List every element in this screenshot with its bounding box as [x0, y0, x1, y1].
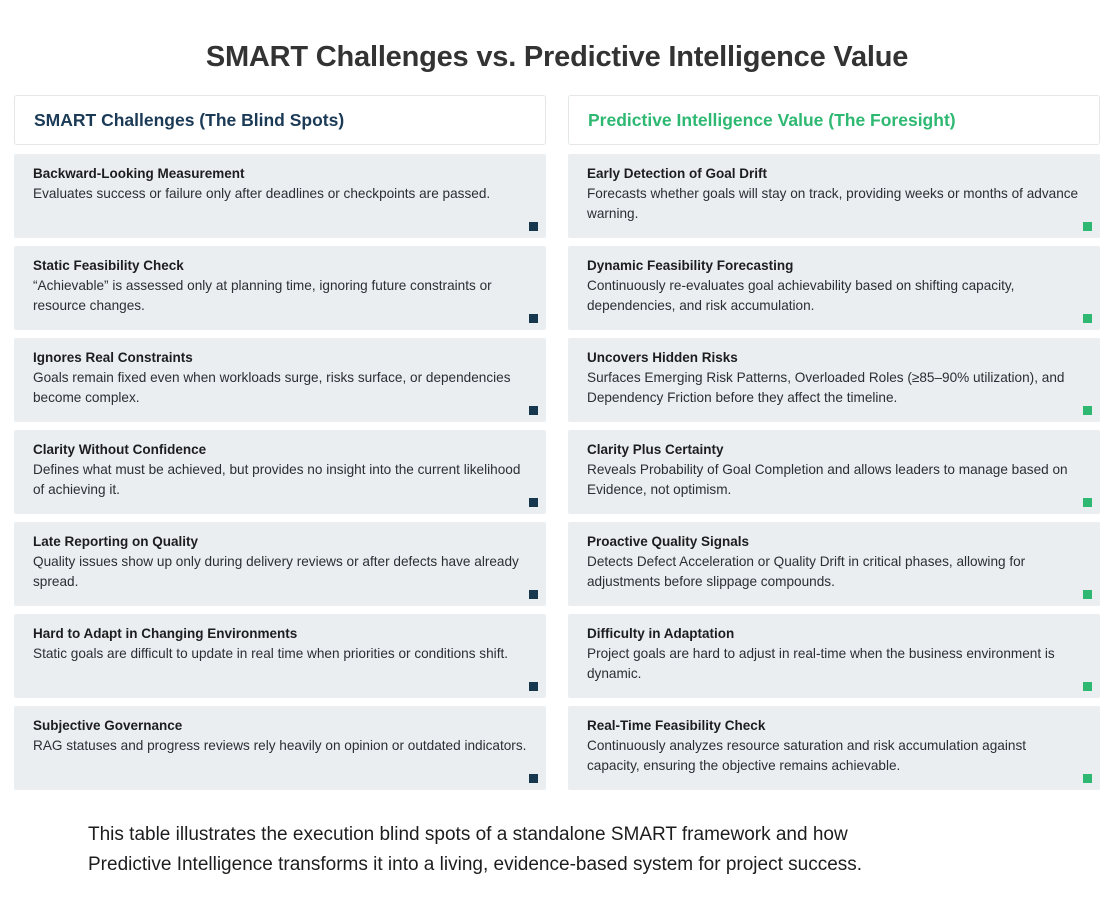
green-square-marker-icon	[1083, 498, 1092, 507]
card-description: Project goals are hard to adjust in real…	[587, 644, 1081, 684]
list-item[interactable]: Clarity Without Confidence Defines what …	[14, 430, 546, 514]
list-item[interactable]: Hard to Adapt in Changing Environments S…	[14, 614, 546, 698]
green-square-marker-icon	[1083, 774, 1092, 783]
list-item[interactable]: Real-Time Feasibility Check Continuously…	[568, 706, 1100, 790]
green-square-marker-icon	[1083, 314, 1092, 323]
card-description: Continuously analyzes resource saturatio…	[587, 736, 1081, 776]
card-description: Forecasts whether goals will stay on tra…	[587, 184, 1081, 224]
card-title: Late Reporting on Quality	[33, 533, 527, 551]
card-title: Dynamic Feasibility Forecasting	[587, 257, 1081, 275]
column-header-smart-challenges: SMART Challenges (The Blind Spots)	[14, 95, 546, 145]
card-title: Real-Time Feasibility Check	[587, 717, 1081, 735]
card-title: Early Detection of Goal Drift	[587, 165, 1081, 183]
card-title: Static Feasibility Check	[33, 257, 527, 275]
green-square-marker-icon	[1083, 406, 1092, 415]
card-description: Defines what must be achieved, but provi…	[33, 460, 527, 500]
list-item[interactable]: Dynamic Feasibility Forecasting Continuo…	[568, 246, 1100, 330]
list-item[interactable]: Static Feasibility Check “Achievable” is…	[14, 246, 546, 330]
card-description: Continuously re-evaluates goal achievabi…	[587, 276, 1081, 316]
list-item[interactable]: Subjective Governance RAG statuses and p…	[14, 706, 546, 790]
list-item[interactable]: Clarity Plus Certainty Reveals Probabili…	[568, 430, 1100, 514]
green-square-marker-icon	[1083, 222, 1092, 231]
comparison-table-page: SMART Challenges vs. Predictive Intellig…	[0, 19, 1114, 905]
caption-line-2: Predictive Intelligence transforms it in…	[88, 850, 1026, 879]
navy-square-marker-icon	[529, 498, 538, 507]
navy-square-marker-icon	[529, 774, 538, 783]
green-square-marker-icon	[1083, 682, 1092, 691]
navy-square-marker-icon	[529, 222, 538, 231]
card-title: Backward-Looking Measurement	[33, 165, 527, 183]
card-description: “Achievable” is assessed only at plannin…	[33, 276, 527, 316]
page-title: SMART Challenges vs. Predictive Intellig…	[0, 19, 1114, 75]
card-description: Evaluates success or failure only after …	[33, 184, 527, 204]
navy-square-marker-icon	[529, 314, 538, 323]
list-item[interactable]: Uncovers Hidden Risks Surfaces Emerging …	[568, 338, 1100, 422]
card-description: Quality issues show up only during deliv…	[33, 552, 527, 592]
green-square-marker-icon	[1083, 590, 1092, 599]
list-item[interactable]: Backward-Looking Measurement Evaluates s…	[14, 154, 546, 238]
card-description: RAG statuses and progress reviews rely h…	[33, 736, 527, 756]
column-header-predictive-intelligence-value: Predictive Intelligence Value (The Fores…	[568, 95, 1100, 145]
card-title: Proactive Quality Signals	[587, 533, 1081, 551]
list-item[interactable]: Proactive Quality Signals Detects Defect…	[568, 522, 1100, 606]
card-title: Ignores Real Constraints	[33, 349, 527, 367]
card-list-smart-challenges: Backward-Looking Measurement Evaluates s…	[14, 154, 546, 790]
navy-square-marker-icon	[529, 682, 538, 691]
column-header-label: Predictive Intelligence Value (The Fores…	[588, 110, 956, 131]
navy-square-marker-icon	[529, 590, 538, 599]
card-description: Goals remain fixed even when workloads s…	[33, 368, 527, 408]
list-item[interactable]: Difficulty in Adaptation Project goals a…	[568, 614, 1100, 698]
caption-line-1: This table illustrates the execution bli…	[88, 820, 1026, 849]
card-title: Clarity Without Confidence	[33, 441, 527, 459]
list-item[interactable]: Late Reporting on Quality Quality issues…	[14, 522, 546, 606]
card-title: Clarity Plus Certainty	[587, 441, 1081, 459]
card-description: Surfaces Emerging Risk Patterns, Overloa…	[587, 368, 1081, 408]
column-predictive-intelligence-value: Predictive Intelligence Value (The Fores…	[568, 95, 1100, 798]
card-list-predictive-intelligence-value: Early Detection of Goal Drift Forecasts …	[568, 154, 1100, 790]
list-item[interactable]: Ignores Real Constraints Goals remain fi…	[14, 338, 546, 422]
card-description: Static goals are difficult to update in …	[33, 644, 527, 664]
list-item[interactable]: Early Detection of Goal Drift Forecasts …	[568, 154, 1100, 238]
card-title: Uncovers Hidden Risks	[587, 349, 1081, 367]
table-caption: This table illustrates the execution bli…	[0, 820, 1114, 879]
comparison-table: SMART Challenges (The Blind Spots) Backw…	[0, 95, 1114, 798]
navy-square-marker-icon	[529, 406, 538, 415]
card-title: Difficulty in Adaptation	[587, 625, 1081, 643]
column-smart-challenges: SMART Challenges (The Blind Spots) Backw…	[14, 95, 546, 798]
card-description: Reveals Probability of Goal Completion a…	[587, 460, 1081, 500]
column-header-label: SMART Challenges (The Blind Spots)	[34, 110, 344, 131]
card-title: Subjective Governance	[33, 717, 527, 735]
card-title: Hard to Adapt in Changing Environments	[33, 625, 527, 643]
card-description: Detects Defect Acceleration or Quality D…	[587, 552, 1081, 592]
